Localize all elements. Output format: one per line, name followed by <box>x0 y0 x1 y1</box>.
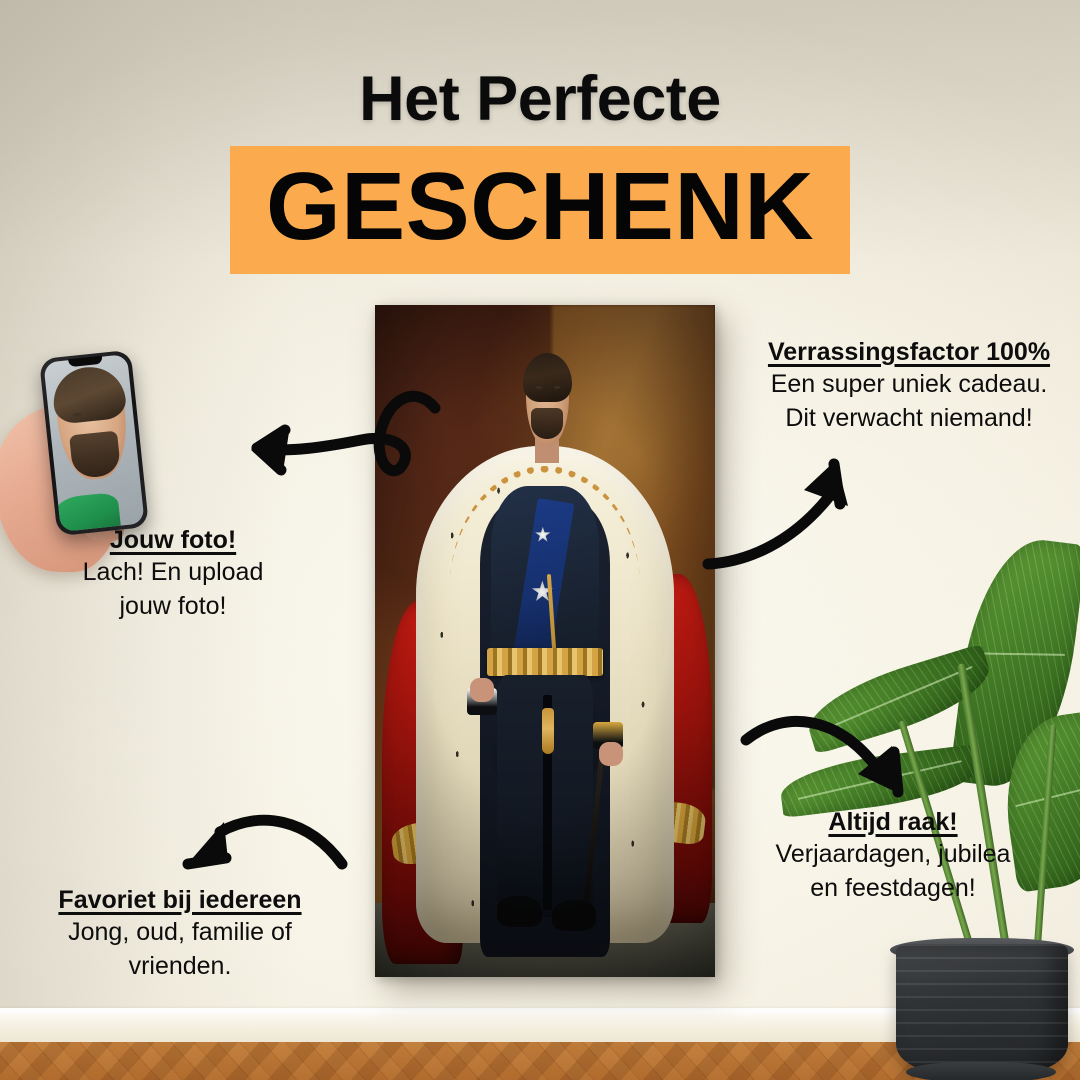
callout-line: Lach! En upload <box>38 556 308 590</box>
headline-line-1: Het Perfecte <box>0 66 1080 132</box>
pot-ridges <box>896 944 1068 1072</box>
portrait-hand-left <box>470 678 494 702</box>
arrow-to-always-icon <box>742 702 932 814</box>
callout-line: jouw foto! <box>38 590 308 624</box>
callout-title: Favoriet bij iedereen <box>30 884 330 916</box>
gold-tassel <box>542 708 554 754</box>
plant-pot <box>896 944 1068 1072</box>
callout-line: vrienden. <box>30 950 330 984</box>
arrow-to-favorite-icon <box>162 802 346 894</box>
callout-altijd-raak: Altijd raak! Verjaardagen, jubilea en fe… <box>748 806 1038 905</box>
callout-title: Altijd raak! <box>748 806 1038 838</box>
page-title: Het Perfecte GESCHENK <box>0 66 1080 274</box>
portrait-hand-right <box>599 742 623 766</box>
headline-line-2-highlight: GESCHENK <box>230 146 850 274</box>
callout-title: Jouw foto! <box>38 524 308 556</box>
callout-verrassingsfactor: Verrassingsfactor 100% Een super uniek c… <box>744 336 1074 435</box>
selfie-hair <box>50 363 128 425</box>
callout-line: Jong, oud, familie of <box>30 916 330 950</box>
boot-right <box>552 900 596 931</box>
plant-pot-saucer <box>906 1062 1056 1080</box>
callout-favoriet: Favoriet bij iedereen Jong, oud, familie… <box>30 884 330 983</box>
phone-screen[interactable] <box>43 354 144 532</box>
callout-jouw-foto: Jouw foto! Lach! En upload jouw foto! <box>38 524 308 623</box>
gold-sword-belt <box>487 648 603 676</box>
boot-left <box>497 896 541 927</box>
callout-line: Een super uniek cadeau. <box>744 368 1074 402</box>
callout-line: en feestdagen! <box>748 872 1038 906</box>
arrow-to-photo-icon <box>185 378 445 533</box>
portrait-eye-left <box>536 386 542 389</box>
portrait-eye-right <box>554 386 560 389</box>
callout-line: Dit verwacht niemand! <box>744 402 1074 436</box>
arrow-to-surprise-icon <box>700 442 880 582</box>
callout-title: Verrassingsfactor 100% <box>744 336 1074 368</box>
callout-line: Verjaardagen, jubilea <box>748 838 1038 872</box>
smartphone[interactable] <box>39 350 149 537</box>
